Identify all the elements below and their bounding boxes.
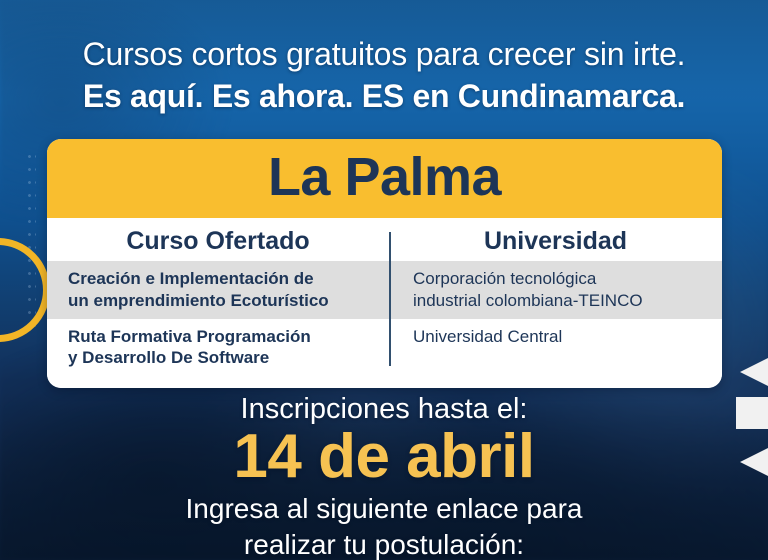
municipality-title: La Palma: [47, 149, 722, 206]
cell-university-line-1: Universidad Central: [413, 326, 706, 348]
municipality-card: La Palma Curso Ofertado Universidad Crea…: [47, 139, 722, 388]
cell-course-line-2: y Desarrollo De Software: [68, 347, 375, 369]
cell-course-line-1: Creación e Implementación de: [68, 268, 375, 290]
deadline-date: 14 de abril: [0, 424, 768, 490]
deadline-label: Inscripciones hasta el:: [0, 392, 768, 426]
cell-course-line-1: Ruta Formativa Programación: [68, 326, 375, 348]
headline-line-2: Es aquí. Es ahora. ES en Cundinamarca.: [0, 78, 768, 116]
cell-course-line-2: un emprendimiento Ecoturístico: [68, 290, 375, 312]
cell-university: Corporación tecnológica industrial colom…: [389, 268, 722, 312]
footer: Inscripciones hasta el: 14 de abril Ingr…: [0, 392, 768, 560]
column-header-course: Curso Ofertado: [47, 228, 389, 256]
cta-line-2: realizar tu postulación:: [0, 528, 768, 560]
column-header-university: Universidad: [389, 228, 722, 256]
cell-course: Ruta Formativa Programación y Desarrollo…: [47, 326, 389, 370]
cell-university: Universidad Central: [389, 326, 722, 370]
cell-university-line-2: industrial colombiana-TEINCO: [413, 290, 706, 312]
courses-table: Curso Ofertado Universidad Creación e Im…: [47, 224, 722, 377]
table-row: Ruta Formativa Programación y Desarrollo…: [47, 319, 722, 377]
table-header-row: Curso Ofertado Universidad: [47, 224, 722, 262]
headline: Cursos cortos gratuitos para crecer sin …: [0, 36, 768, 116]
cell-university-line-1: Corporación tecnológica: [413, 268, 706, 290]
table-row: Creación e Implementación de un emprendi…: [47, 261, 722, 319]
column-divider: [389, 232, 391, 367]
chevron-left-icon: [740, 352, 768, 392]
cell-course: Creación e Implementación de un emprendi…: [47, 268, 389, 312]
headline-line-1: Cursos cortos gratuitos para crecer sin …: [0, 36, 768, 74]
cta-line-1: Ingresa al siguiente enlace para: [0, 492, 768, 526]
card-body: Curso Ofertado Universidad Creación e Im…: [47, 218, 722, 389]
card-header: La Palma: [47, 139, 722, 218]
promo-poster: Cursos cortos gratuitos para crecer sin …: [0, 0, 768, 560]
